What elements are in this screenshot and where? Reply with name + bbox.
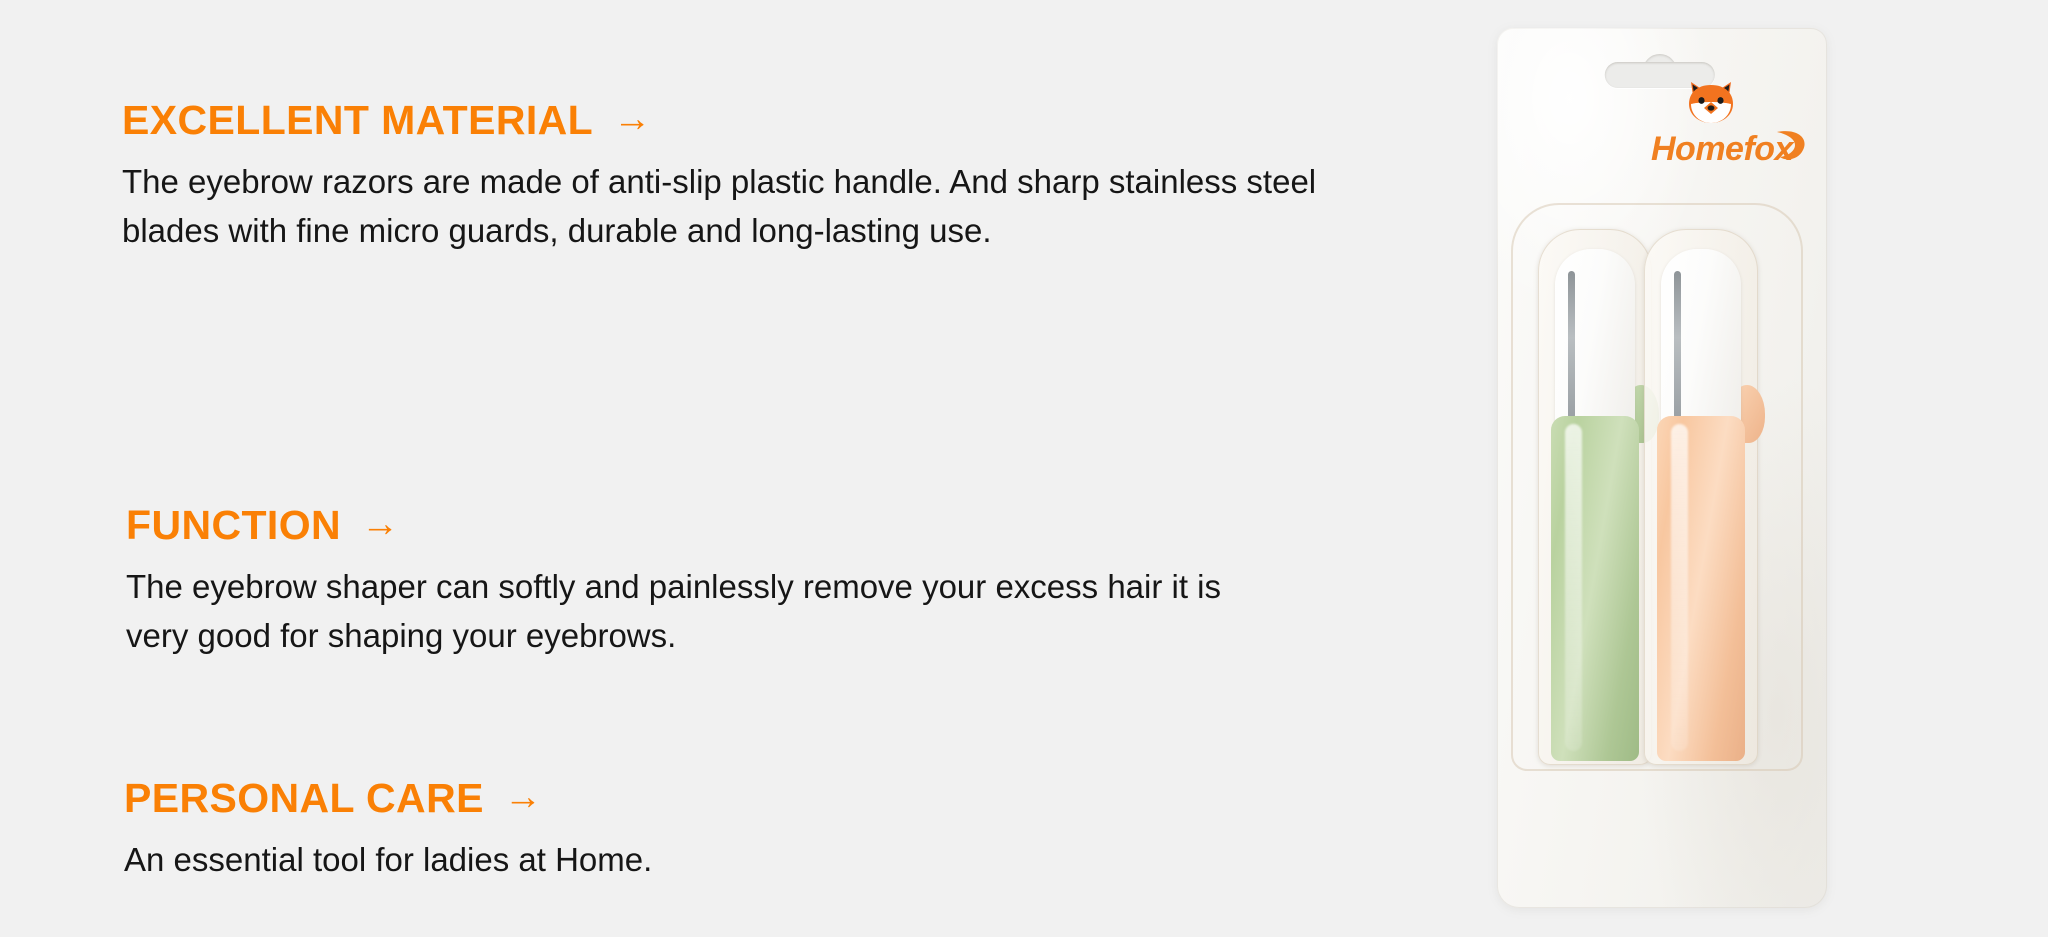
feature-heading: PERSONAL CARE → xyxy=(124,774,652,822)
feature-heading-text: PERSONAL CARE xyxy=(124,774,484,822)
razor-handle xyxy=(1657,416,1745,761)
feature-heading: FUNCTION → xyxy=(126,501,1286,549)
arrow-right-icon: → xyxy=(613,100,651,138)
eyebrow-razor-peach xyxy=(1653,241,1749,761)
brand-logo: Homefox Homefox xyxy=(1649,80,1809,178)
blister-bubble xyxy=(1525,215,1787,761)
feature-block-excellent-material: EXCELLENT MATERIAL → The eyebrow razors … xyxy=(122,96,1317,255)
blister-card: Homefox Homefox xyxy=(1497,28,1827,908)
razor-blade-cover xyxy=(1661,249,1741,439)
eyebrow-razor-green xyxy=(1547,241,1643,761)
feature-body-text: The eyebrow shaper can softly and painle… xyxy=(126,563,1286,660)
feature-body-text: An essential tool for ladies at Home. xyxy=(124,836,652,885)
brand-name-text: Homefox xyxy=(1649,80,1650,81)
product-feature-banner: EXCELLENT MATERIAL → The eyebrow razors … xyxy=(0,0,2048,937)
razor-handle-gloss xyxy=(1671,424,1688,751)
feature-block-personal-care: PERSONAL CARE → An essential tool for la… xyxy=(124,774,652,885)
feature-heading: EXCELLENT MATERIAL → xyxy=(122,96,1317,144)
razor-handle-gloss xyxy=(1565,424,1582,751)
razor-handle xyxy=(1551,416,1639,761)
razor-blade-slot xyxy=(1674,271,1681,419)
razor-blade-slot xyxy=(1568,271,1575,419)
product-image: Homefox Homefox xyxy=(1497,28,1827,908)
svg-text:Homefox: Homefox xyxy=(1651,130,1796,168)
feature-body-text: The eyebrow razors are made of anti-slip… xyxy=(122,158,1317,255)
arrow-right-icon: → xyxy=(361,505,399,543)
feature-block-function: FUNCTION → The eyebrow shaper can softly… xyxy=(126,501,1286,660)
fox-head-icon xyxy=(1685,80,1737,128)
feature-heading-text: FUNCTION xyxy=(126,501,341,549)
brand-wordmark: Homefox xyxy=(1649,122,1809,174)
razor-blade-cover xyxy=(1555,249,1635,439)
feature-heading-text: EXCELLENT MATERIAL xyxy=(122,96,593,144)
arrow-right-icon: → xyxy=(504,778,542,816)
